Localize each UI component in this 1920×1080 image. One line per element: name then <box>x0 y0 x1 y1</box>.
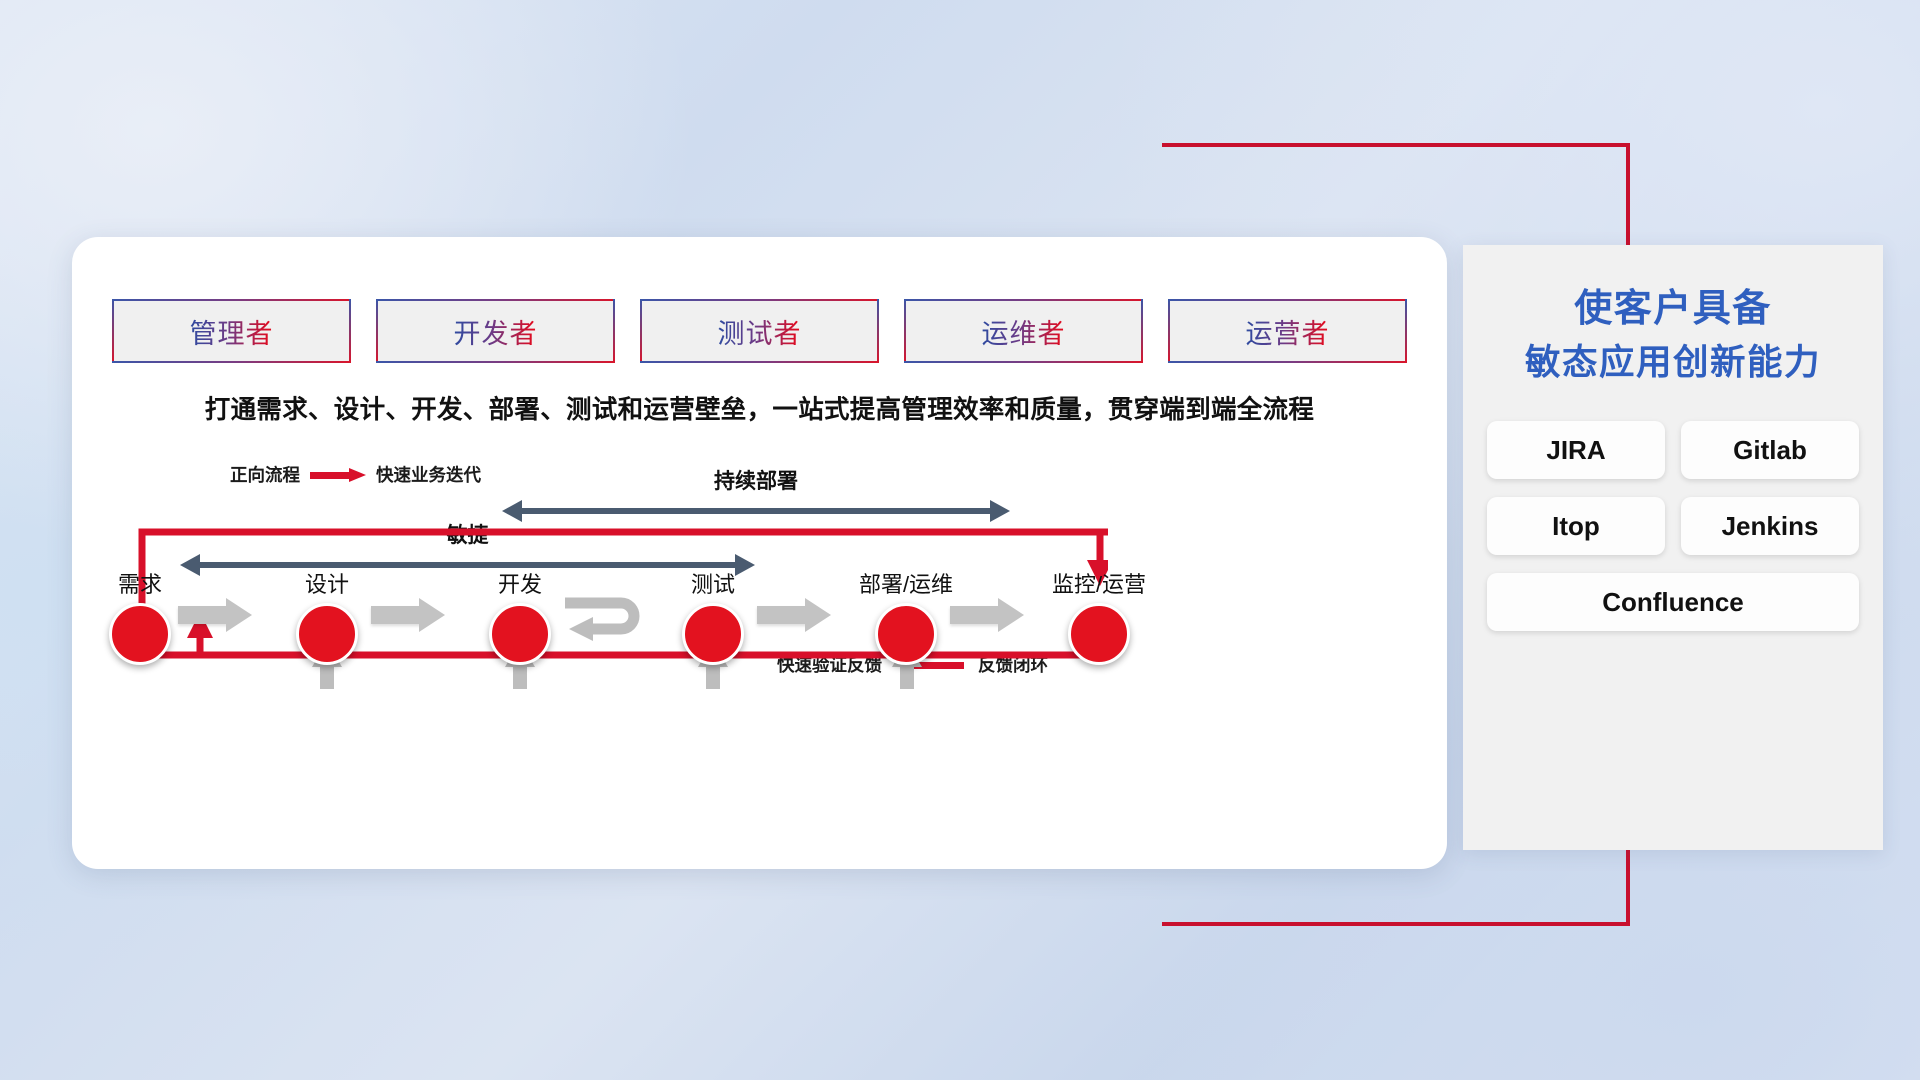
role-box-bottom-border <box>904 361 1143 363</box>
tool-chip-gitlab[interactable]: Gitlab <box>1681 421 1859 479</box>
stage-dot-icon <box>109 603 171 665</box>
stage-label: 监控/运营 <box>1024 567 1174 599</box>
stage-dot-icon <box>1068 603 1130 665</box>
span-label-continuous-deployment: 持续部署 <box>502 465 1010 495</box>
tool-panel-title: 使客户具备 敏态应用创新能力 <box>1463 245 1883 387</box>
tool-panel-title-line1: 使客户具备 <box>1574 288 1772 330</box>
stage-dot-icon <box>875 603 937 665</box>
arrow-shaft <box>178 606 228 624</box>
flow-arrow-testing-to-deploy <box>757 598 831 632</box>
arrow-shaft <box>757 606 807 624</box>
legend-forward-target-label: 快速业务迭代 <box>376 462 481 487</box>
arrow-head <box>998 598 1024 632</box>
tool-chip-itop[interactable]: Itop <box>1487 497 1665 555</box>
flow-arrow-design-to-development <box>371 598 445 632</box>
stage-dot-icon <box>489 603 551 665</box>
headline-text: 打通需求、设计、开发、部署、测试和运营壁垒，一站式提高管理效率和质量，贯穿端到端… <box>72 389 1447 426</box>
stage-label: 设计 <box>252 567 402 599</box>
role-label: 开发者 <box>454 312 538 351</box>
role-box-bottom-border <box>112 361 351 363</box>
role-label: 测试者 <box>718 312 802 351</box>
role-box-top-border <box>1168 299 1407 301</box>
tool-chip-label: Jenkins <box>1722 511 1819 542</box>
role-box-row: 管理者 开发者 测试者 运维者 运营者 <box>112 299 1407 363</box>
role-box-top-border <box>376 299 615 301</box>
role-box-business-operator[interactable]: 运营者 <box>1168 299 1407 363</box>
arrow-head-right <box>990 500 1010 522</box>
role-box-top-border <box>112 299 351 301</box>
devops-pipeline: 需求 设计 开发 测试 部署/运维 监控/运营 <box>72 567 1447 727</box>
role-box-top-border <box>904 299 1143 301</box>
tool-panel-title-line2: 敏态应用创新能力 <box>1463 337 1883 387</box>
tool-chip-jenkins[interactable]: Jenkins <box>1681 497 1859 555</box>
role-box-top-border <box>640 299 879 301</box>
stage-label: 测试 <box>638 567 788 599</box>
tool-chip-label: Confluence <box>1602 587 1744 618</box>
arrow-head <box>805 598 831 632</box>
arrow-shaft <box>310 472 350 479</box>
tool-chip-label: JIRA <box>1546 435 1605 466</box>
stage-dot-icon <box>296 603 358 665</box>
tool-chip-label: Gitlab <box>1733 435 1807 466</box>
tool-chip-grid: JIRA Gitlab Itop Jenkins Confluence <box>1463 387 1883 631</box>
role-label: 管理者 <box>190 312 274 351</box>
flow-arrow-deploy-to-monitor <box>950 598 1024 632</box>
pipeline-stage-monitor-operate[interactable]: 监控/运营 <box>1024 567 1174 665</box>
role-box-tester[interactable]: 测试者 <box>640 299 879 363</box>
arrow-head <box>226 598 252 632</box>
role-box-bottom-border <box>376 361 615 363</box>
role-label: 运维者 <box>982 312 1066 351</box>
arrow-shaft <box>520 508 992 514</box>
tool-panel: 使客户具备 敏态应用创新能力 JIRA Gitlab Itop Jenkins … <box>1463 245 1883 850</box>
role-box-bottom-border <box>640 361 879 363</box>
role-box-operations-engineer[interactable]: 运维者 <box>904 299 1143 363</box>
slide-canvas: 管理者 开发者 测试者 运维者 运营者 <box>0 0 1920 1080</box>
legend-forward-flow: 正向流程 快速业务迭代 <box>230 462 481 487</box>
tool-chip-jira[interactable]: JIRA <box>1487 421 1665 479</box>
red-right-arrow-icon <box>310 468 366 482</box>
tool-chip-confluence[interactable]: Confluence <box>1487 573 1859 631</box>
role-label: 运营者 <box>1246 312 1330 351</box>
arrow-shaft <box>950 606 1000 624</box>
tool-chip-label: Itop <box>1552 511 1600 542</box>
main-content-card: 管理者 开发者 测试者 运维者 运营者 <box>72 237 1447 869</box>
arrow-head <box>419 598 445 632</box>
rework-loop-arrow-icon <box>559 591 655 645</box>
arrow-head <box>349 468 366 482</box>
role-box-manager[interactable]: 管理者 <box>112 299 351 363</box>
arrow-shaft <box>371 606 421 624</box>
stage-label: 部署/运维 <box>831 567 981 599</box>
stage-label: 需求 <box>65 567 215 599</box>
role-box-bottom-border <box>1168 361 1407 363</box>
stage-dot-icon <box>682 603 744 665</box>
flow-arrow-requirements-to-design <box>178 598 252 632</box>
legend-forward-source-label: 正向流程 <box>230 462 300 487</box>
role-box-developer[interactable]: 开发者 <box>376 299 615 363</box>
